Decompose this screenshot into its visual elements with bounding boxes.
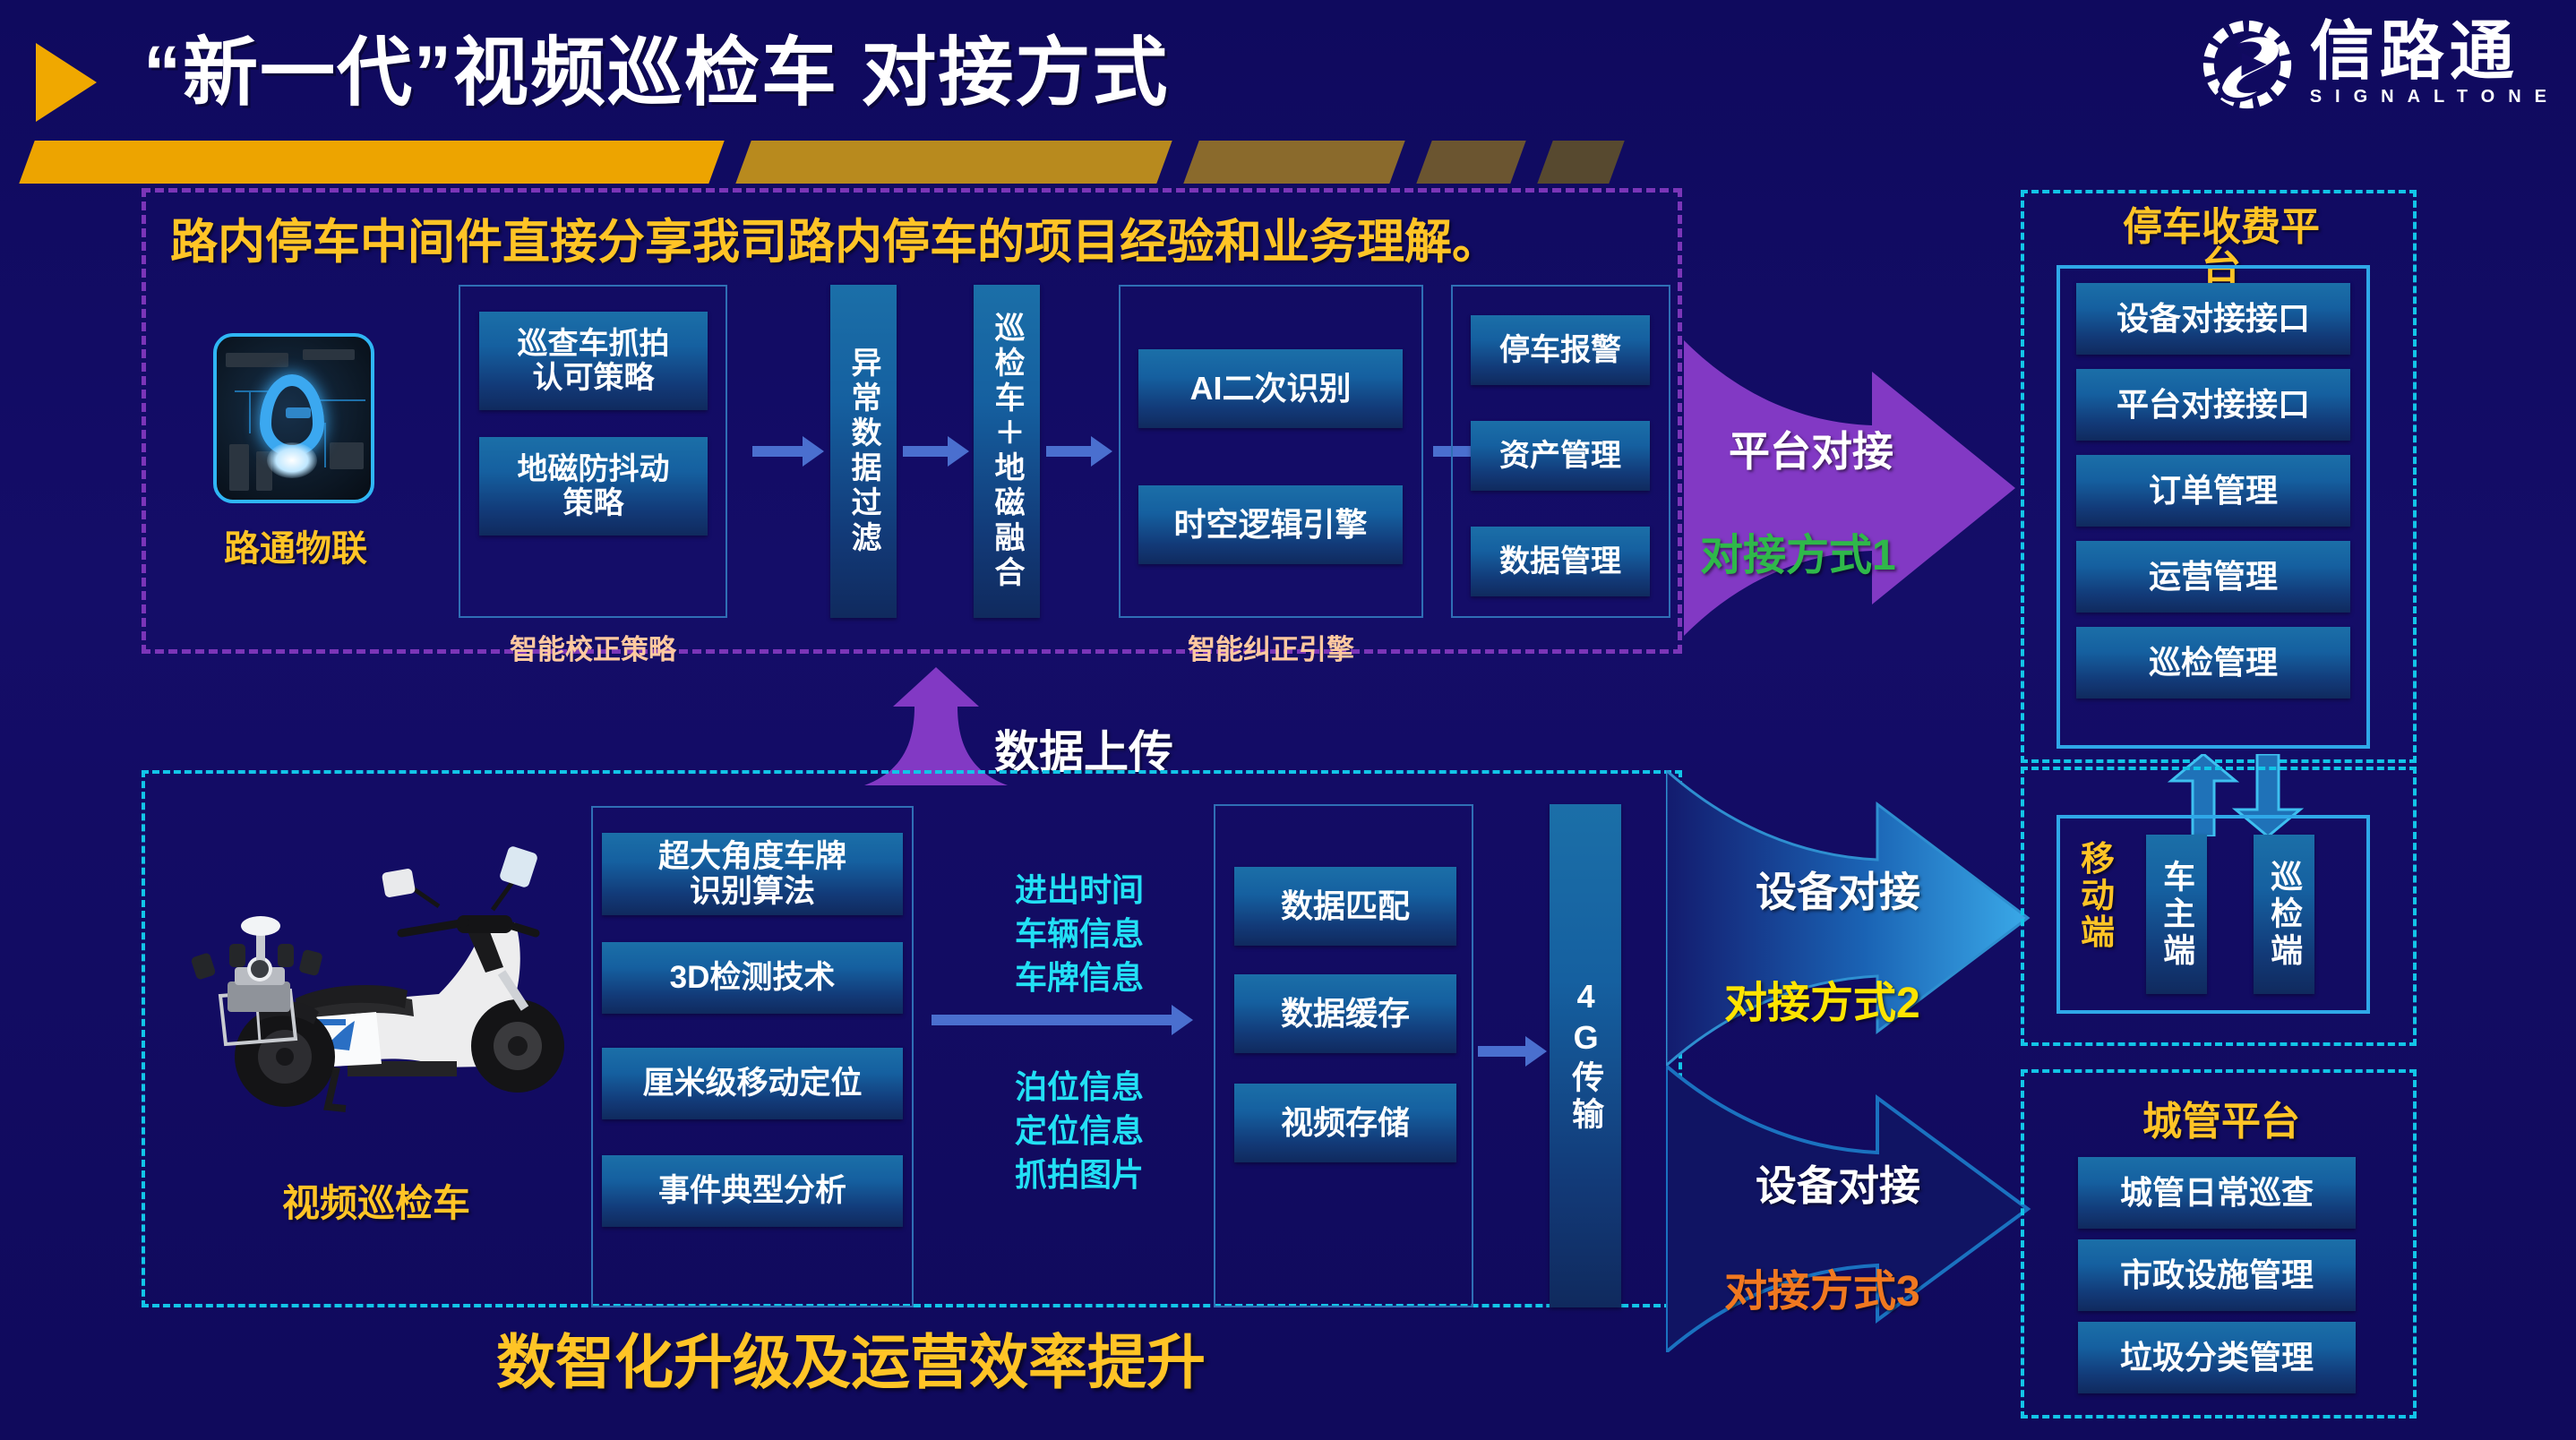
box-4g-transmission-label: 4G传输 [1567, 978, 1603, 1134]
box-device-interface[interactable]: 设备对接接口 [2076, 283, 2350, 355]
city-management-title: 城管平台 [2060, 1089, 2383, 1146]
logo-chinese-name: 信路通 [2310, 21, 2520, 82]
connector-2-tag: 对接方式2 [1724, 967, 1920, 1030]
connector-3-tag: 对接方式3 [1724, 1256, 1920, 1318]
box-large-angle-plate-recognition[interactable]: 超大角度车牌 识别算法 [602, 833, 903, 915]
info-item-berth-info: 泊位信息 [976, 1066, 1182, 1110]
connector-3-label: 设备对接 [1756, 1153, 1920, 1213]
arrow-data-to-4g [1478, 1046, 1527, 1057]
box-video-storage[interactable]: 视频存储 [1234, 1084, 1456, 1162]
correction-engine-label: 智能纠正引擎 [1119, 627, 1423, 667]
glow-effect [267, 442, 317, 478]
accent-bar-4 [1416, 141, 1525, 184]
box-parking-alarm[interactable]: 停车报警 [1471, 315, 1650, 385]
info-item-vehicle-info: 车辆信息 [976, 913, 1182, 956]
slide-root: “新一代”视频巡检车 对接方式 信路通 SIGNALTONE [0, 0, 2576, 1440]
scooter-label: 视频巡检车 [166, 1173, 587, 1228]
arrow-to-engine [1046, 446, 1093, 457]
info-item-location-info: 定位信息 [976, 1110, 1182, 1153]
box-city-daily-inspection[interactable]: 城管日常巡查 [2078, 1157, 2356, 1229]
iot-device-label: 路通物联 [179, 519, 412, 571]
correction-engine-group [1119, 285, 1423, 618]
accent-bar-5 [1537, 141, 1624, 184]
box-spatiotemporal-logic-engine[interactable]: 时空逻辑引擎 [1138, 485, 1403, 564]
arrow-tech-to-data [932, 1015, 1173, 1025]
connector-arrow-1 [1684, 340, 2033, 636]
accent-bar-2 [735, 141, 1172, 184]
header-play-triangle-icon [36, 43, 97, 122]
arrow-to-fusion [903, 446, 949, 457]
info-item-captured-image: 抓拍图片 [976, 1153, 1182, 1197]
connector-1-tag: 对接方式1 [1700, 519, 1896, 582]
info-group-vehicle: 进出时间 车辆信息 车牌信息 [976, 869, 1182, 1000]
patrol-scooter-image [170, 833, 582, 1128]
connector-2-label: 设备对接 [1756, 860, 1920, 919]
box-data-matching[interactable]: 数据匹配 [1234, 867, 1456, 946]
box-ai-secondary-recognition[interactable]: AI二次识别 [1138, 349, 1403, 428]
box-garbage-classification-management[interactable]: 垃圾分类管理 [2078, 1322, 2356, 1393]
box-municipal-facility-management[interactable]: 市政设施管理 [2078, 1239, 2356, 1311]
info-group-parking: 泊位信息 定位信息 抓拍图片 [976, 1066, 1182, 1197]
box-operation-management[interactable]: 运营管理 [2076, 541, 2350, 613]
box-abnormal-data-filter-label: 异常数据过滤 [846, 347, 880, 556]
box-vehicle-geomagnetic-fusion-label: 巡检车＋地磁融合 [990, 312, 1024, 591]
company-logo: 信路通 SIGNALTONE [2199, 16, 2560, 113]
box-asset-management[interactable]: 资产管理 [1471, 421, 1650, 491]
box-inspector-app-label: 巡检端 [2266, 860, 2302, 970]
box-inspection-management[interactable]: 巡检管理 [2076, 627, 2350, 699]
connector-1-label: 平台对接 [1729, 419, 1893, 478]
mobile-label: 移动端 [2071, 842, 2125, 952]
box-vehicle-geomagnetic-fusion: 巡检车＋地磁融合 [974, 285, 1040, 618]
accent-bar-1 [19, 141, 724, 184]
signaltone-mark-icon [2199, 16, 2296, 113]
correct-strategy-label: 智能校正策略 [459, 627, 727, 667]
info-item-entry-exit-time: 进出时间 [976, 869, 1182, 913]
box-3d-detection[interactable]: 3D检测技术 [602, 942, 903, 1014]
box-cm-level-positioning[interactable]: 厘米级移动定位 [602, 1048, 903, 1119]
box-platform-interface[interactable]: 平台对接接口 [2076, 369, 2350, 441]
info-item-plate-info: 车牌信息 [976, 956, 1182, 1000]
top-panel-note: 路内停车中间件直接分享我司路内停车的项目经验和业务理解。 [170, 204, 1657, 272]
box-data-management[interactable]: 数据管理 [1471, 527, 1650, 596]
bottom-banner: 数智化升级及运营效率提升 [0, 1315, 1702, 1401]
box-owner-app-label: 车主端 [2159, 860, 2194, 970]
box-4g-transmission: 4G传输 [1550, 804, 1621, 1307]
iot-device-image [213, 333, 374, 503]
box-data-cache[interactable]: 数据缓存 [1234, 974, 1456, 1053]
accent-bar-3 [1183, 141, 1404, 184]
header-accent-bars [0, 141, 1702, 185]
page-title: “新一代”视频巡检车 对接方式 [143, 13, 1169, 121]
arrow-to-filter [752, 446, 804, 457]
logo-english-name: SIGNALTONE [2310, 87, 2560, 107]
box-event-analysis[interactable]: 事件典型分析 [602, 1155, 903, 1227]
box-owner-app[interactable]: 车主端 [2146, 835, 2207, 994]
box-patrol-capture-policy[interactable]: 巡查车抓拍 认可策略 [479, 312, 708, 410]
box-geomagnetic-antishake-policy[interactable]: 地磁防抖动 策略 [479, 437, 708, 536]
box-abnormal-data-filter: 异常数据过滤 [830, 285, 897, 618]
box-inspector-app[interactable]: 巡检端 [2254, 835, 2314, 994]
box-order-management[interactable]: 订单管理 [2076, 455, 2350, 527]
